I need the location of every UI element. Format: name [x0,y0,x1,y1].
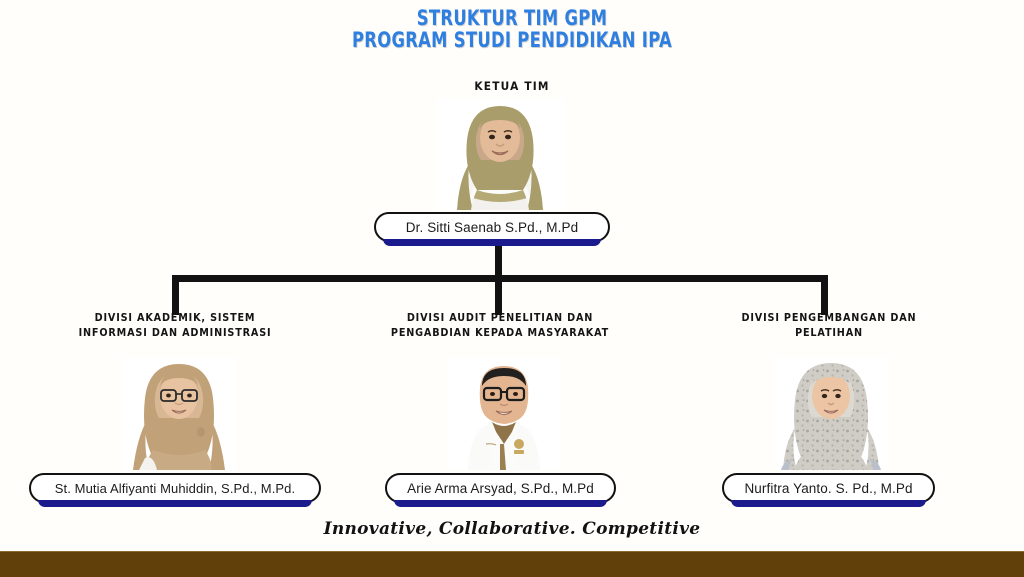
division-3-name-pill[interactable]: Nurfitra Yanto. S. Pd., M.Pd [722,473,935,503]
division-3-role-line-2: PELATIHAN [795,327,863,339]
division-3-role-label: DIVISI PENGEMBANGAN DAN PELATIHAN [700,311,958,341]
leader-name-pill[interactable]: Dr. Sitti Saenab S.Pd., M.Pd [374,212,610,242]
connector-drop-middle [495,275,502,315]
division-3-role-line-1: DIVISI PENGEMBANGAN DAN [742,312,917,324]
division-1-name-pill[interactable]: St. Mutia Alfiyanti Muhiddin, S.Pd., M.P… [29,473,321,503]
connector-drop-right [821,275,828,315]
division-1-photo [123,358,235,470]
leader-photo [437,98,563,210]
division-1-role-label: DIVISI AKADEMIK, SISTEM INFORMASI DAN AD… [46,311,304,341]
bottom-brand-bar [0,551,1024,577]
leader-role-label: KETUA TIM [374,78,650,95]
division-2-role-line-2: PENGABDIAN KEPADA MASYARAKAT [391,327,609,339]
title-line-2: PROGRAM STUDI PENDIDIKAN IPA [113,30,912,52]
division-3-photo [775,358,887,470]
connector-drop-left [172,275,179,315]
division-2-photo [448,358,560,470]
division-2-role-label: DIVISI AUDIT PENELITIAN DAN PENGABDIAN K… [371,311,629,341]
org-chart-slide: STRUKTUR TIM GPM PROGRAM STUDI PENDIDIKA… [0,0,1024,576]
division-1-role-line-2: INFORMASI DAN ADMINISTRASI [79,327,272,339]
title-line-1: STRUKTUR TIM GPM [113,8,912,30]
slide-title: STRUKTUR TIM GPM PROGRAM STUDI PENDIDIKA… [0,8,1024,52]
division-2-name-pill[interactable]: Arie Arma Arsyad, S.Pd., M.Pd [385,473,616,503]
tagline: Innovative, Collaborative. Competitive [0,519,1024,539]
